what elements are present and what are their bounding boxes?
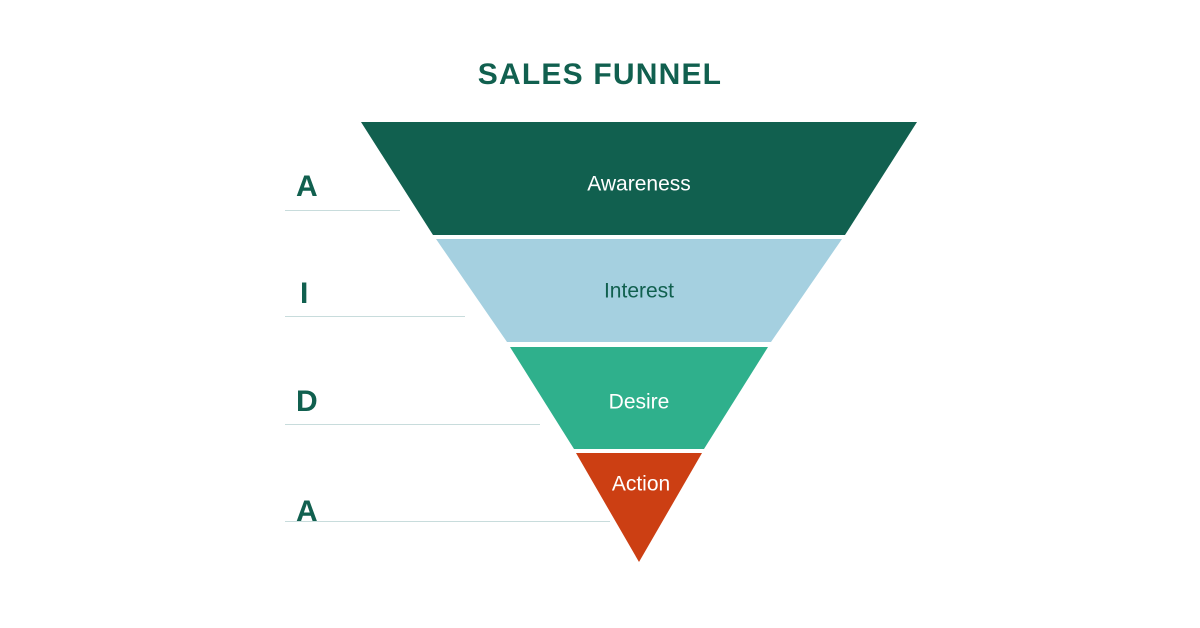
stage-letter-a2: A <box>296 497 318 527</box>
funnel-segment-action[interactable] <box>576 453 702 562</box>
funnel-label-interest: Interest <box>604 281 674 302</box>
stage-rule-i <box>285 316 465 317</box>
stage-rule-a <box>285 210 400 211</box>
stage-letter-i: I <box>300 279 308 309</box>
stage-rule-a2 <box>285 521 610 522</box>
funnel-label-desire: Desire <box>609 392 670 413</box>
stage-letter-d: D <box>296 387 318 417</box>
stage-letter-a: A <box>296 172 318 202</box>
funnel-shape-group <box>0 0 1200 628</box>
funnel-diagram-canvas: SALES FUNNEL AIDA AwarenessInterestDesir… <box>0 0 1200 628</box>
funnel-label-action: Action <box>612 474 670 495</box>
stage-rule-d <box>285 424 540 425</box>
funnel-label-awareness: Awareness <box>587 174 691 195</box>
